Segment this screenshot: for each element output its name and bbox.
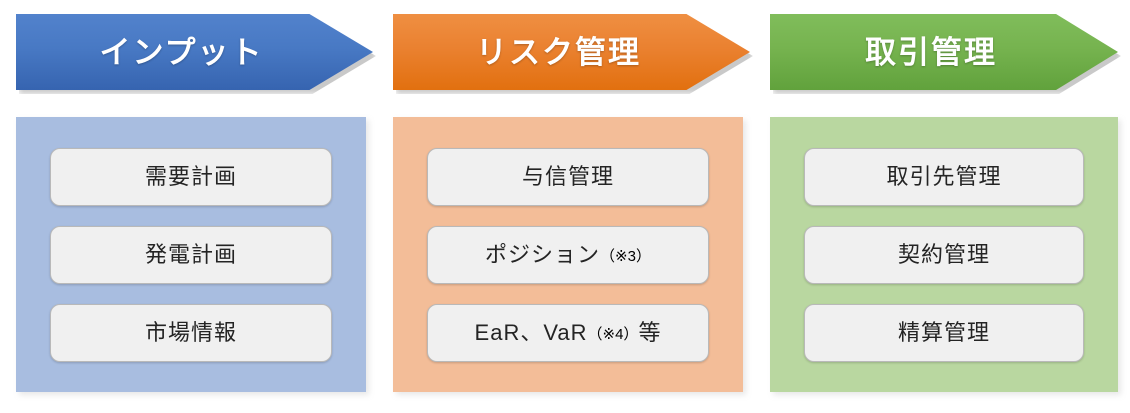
arrow-shape-risk: リスク管理 bbox=[393, 14, 750, 90]
item-footnote-marker: （※4） bbox=[588, 323, 639, 344]
item-box[interactable]: 与信管理 bbox=[427, 148, 709, 206]
stage-column-risk: リスク管理 与信管理 ポジション（※3） EaR、VaR（※4）等 bbox=[393, 0, 750, 413]
item-box[interactable]: 市場情報 bbox=[50, 304, 332, 362]
item-box[interactable]: EaR、VaR（※4）等 bbox=[427, 304, 709, 362]
item-label: 発電計画 bbox=[145, 244, 237, 266]
item-label: 取引先管理 bbox=[886, 166, 1001, 188]
stage-header-arrow-trade[interactable]: 取引管理 bbox=[770, 14, 1118, 90]
item-label: 精算管理 bbox=[898, 322, 990, 344]
arrow-shape-input: インプット bbox=[16, 14, 373, 90]
item-box[interactable]: ポジション（※3） bbox=[427, 226, 709, 284]
stage-panel-risk: 与信管理 ポジション（※3） EaR、VaR（※4）等 bbox=[393, 117, 743, 392]
item-label: 契約管理 bbox=[898, 244, 990, 266]
arrow-shape-trade: 取引管理 bbox=[770, 14, 1118, 90]
item-label: EaR、VaR bbox=[475, 322, 588, 344]
item-label: 与信管理 bbox=[522, 166, 614, 188]
item-label: 需要計画 bbox=[145, 166, 237, 188]
item-label: 市場情報 bbox=[145, 322, 237, 344]
item-box[interactable]: 契約管理 bbox=[804, 226, 1084, 284]
stage-header-arrow-input[interactable]: インプット bbox=[16, 14, 373, 90]
stage-header-label-trade: 取引管理 bbox=[865, 37, 1023, 68]
stage-header-label-input: インプット bbox=[99, 37, 289, 68]
stage-column-trade: 取引管理 取引先管理 契約管理 精算管理 bbox=[770, 0, 1118, 413]
item-box[interactable]: 取引先管理 bbox=[804, 148, 1084, 206]
item-box[interactable]: 需要計画 bbox=[50, 148, 332, 206]
item-box[interactable]: 精算管理 bbox=[804, 304, 1084, 362]
item-footnote-marker: （※3） bbox=[600, 245, 651, 266]
stage-panel-input: 需要計画 発電計画 市場情報 bbox=[16, 117, 366, 392]
process-flow-diagram: インプット 需要計画 発電計画 市場情報 リスク管理 与信管理 bbox=[0, 0, 1130, 413]
stage-header-label-risk: リスク管理 bbox=[476, 37, 667, 68]
item-label-suffix: 等 bbox=[638, 322, 661, 344]
stage-column-input: インプット 需要計画 発電計画 市場情報 bbox=[16, 0, 373, 413]
item-box[interactable]: 発電計画 bbox=[50, 226, 332, 284]
item-label: ポジション bbox=[485, 244, 600, 266]
stage-panel-trade: 取引先管理 契約管理 精算管理 bbox=[770, 117, 1118, 392]
stage-header-arrow-risk[interactable]: リスク管理 bbox=[393, 14, 750, 90]
